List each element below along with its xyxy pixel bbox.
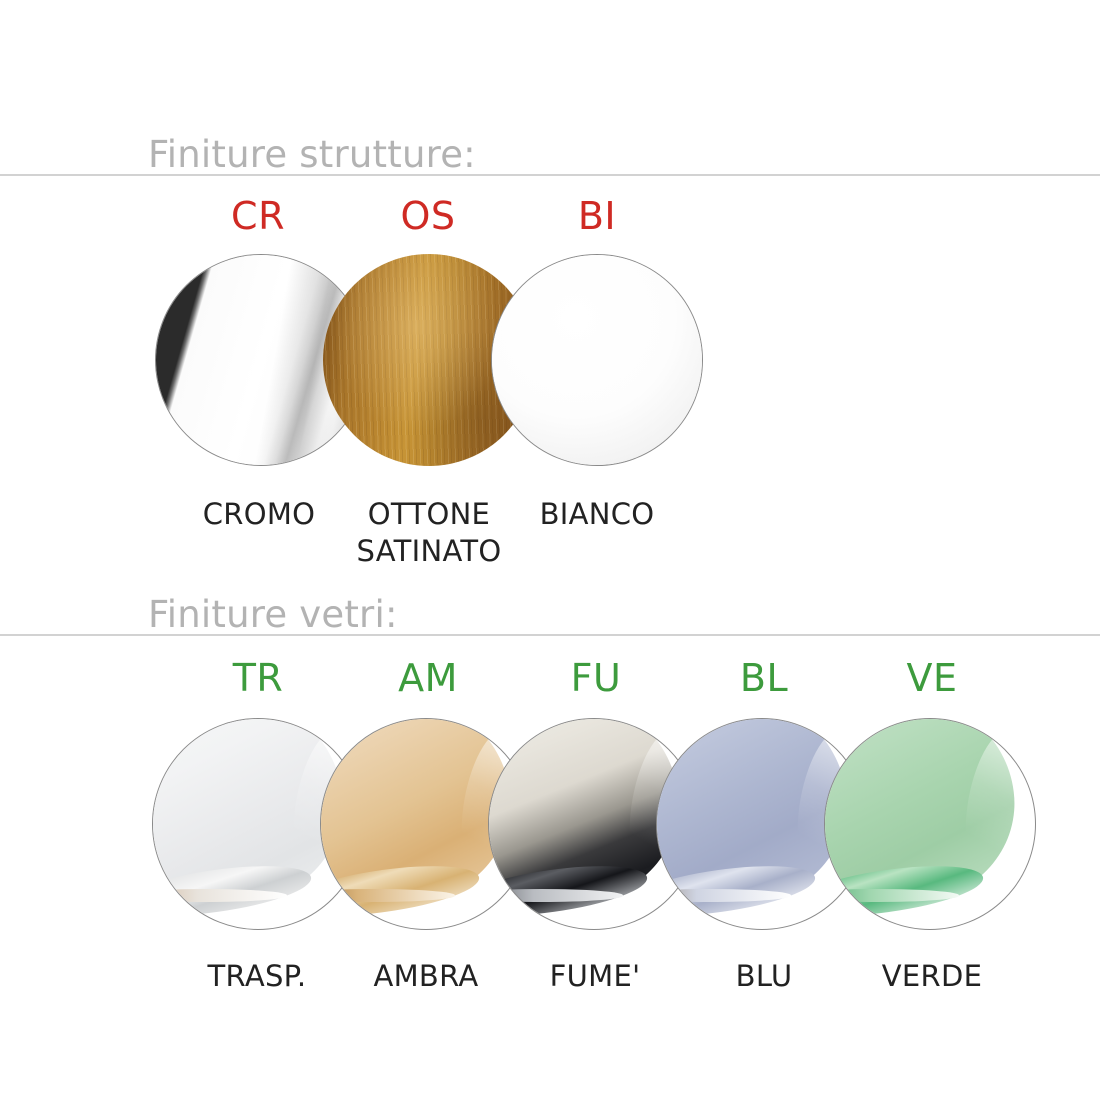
finishes-chart: Finiture strutture: CR OS BI CROMO OTTON… xyxy=(0,0,1100,1100)
white-surface xyxy=(492,255,702,465)
code-ve[interactable]: VE xyxy=(906,656,957,700)
label-fume: FUME' xyxy=(550,958,641,995)
code-tr[interactable]: TR xyxy=(233,656,284,700)
swatch-row-strutture xyxy=(0,254,1100,484)
section-header-strutture: Finiture strutture: xyxy=(0,118,1100,178)
label-blu: BLU xyxy=(736,958,793,995)
label-cromo: CROMO xyxy=(203,496,316,533)
code-row-strutture: CR OS BI xyxy=(0,194,1100,240)
glass-rim-blu xyxy=(656,889,791,902)
label-trasparente: TRASP. xyxy=(208,958,307,995)
glass-rim-ambra xyxy=(320,889,455,902)
swatch-verde[interactable] xyxy=(824,718,1036,930)
code-fu[interactable]: FU xyxy=(571,656,622,700)
section-vetri: Finiture vetri: TR AM FU BL VE xyxy=(0,578,1100,638)
section-divider-vetri xyxy=(0,634,1100,636)
code-cr[interactable]: CR xyxy=(231,194,285,238)
label-bianco: BIANCO xyxy=(540,496,655,533)
code-row-vetri: TR AM FU BL VE xyxy=(0,656,1100,702)
code-bi[interactable]: BI xyxy=(578,194,616,238)
label-ambra: AMBRA xyxy=(373,958,478,995)
glass-rim-verde xyxy=(824,889,959,902)
swatch-row-vetri xyxy=(0,718,1100,948)
section-strutture: Finiture strutture: CR OS BI CROMO OTTON… xyxy=(0,118,1100,178)
section-header-vetri: Finiture vetri: xyxy=(0,578,1100,638)
glass-rim-trasparente xyxy=(152,889,287,902)
section-title-strutture: Finiture strutture: xyxy=(148,133,476,176)
code-bl[interactable]: BL xyxy=(740,656,788,700)
swatch-bianco[interactable] xyxy=(491,254,703,466)
code-os[interactable]: OS xyxy=(400,194,455,238)
label-ottone: OTTONE SATINATO xyxy=(356,496,501,570)
label-verde: VERDE xyxy=(882,958,982,995)
section-divider-strutture xyxy=(0,174,1100,176)
code-am[interactable]: AM xyxy=(398,656,458,700)
glass-rim-fume xyxy=(488,889,623,902)
section-title-vetri: Finiture vetri: xyxy=(148,593,398,636)
